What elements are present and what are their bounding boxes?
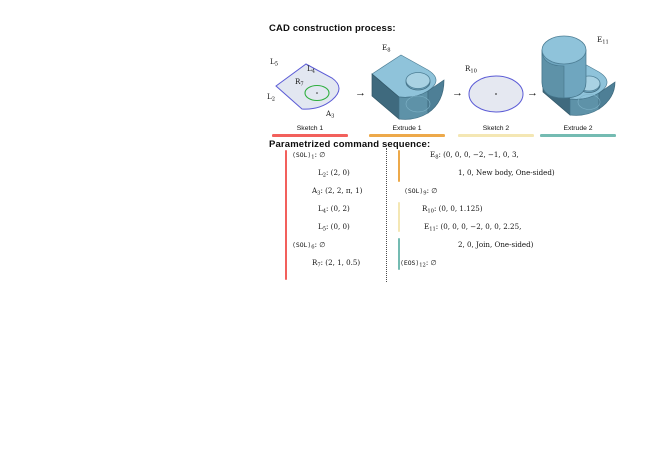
extrude-1-command-bar <box>398 150 400 182</box>
stage-captions: Sketch 1 Extrude 1 Sketch 2 Extrude 2 <box>262 125 602 139</box>
command-line-sol-6: ⟨SOL⟩6: ∅ <box>292 241 325 251</box>
command-line-e-11: E11: (0, 0, 0, −2, 0, 0, 2.25, <box>424 223 521 233</box>
command-line-e-11-cont: 2, 0, Join, One-sided) <box>458 241 533 248</box>
arrow-sketch1-to-extrude1: → <box>355 88 366 99</box>
extrude-1-graphic: E8 <box>368 44 452 126</box>
stage-label-sketch-1: Sketch 1 <box>272 125 348 132</box>
extrude-2-graphic: E11 <box>539 28 629 126</box>
command-line-r-10: R10: (0, 0, 1.125) <box>422 205 483 215</box>
label-L5: L5 <box>270 58 278 68</box>
label-L4: L4 <box>307 65 315 75</box>
stage-bar-extrude-2 <box>540 134 616 137</box>
label-R7: R7 <box>295 78 304 88</box>
command-sequence-heading: Parametrized command sequence: <box>269 139 430 150</box>
command-line-e-8-cont: 1, 0, New body, One-sided) <box>458 169 555 176</box>
label-E8: E8 <box>382 44 391 54</box>
arrow-sketch2-to-extrude2: → <box>527 88 538 99</box>
label-E11: E11 <box>597 36 609 46</box>
stage-label-extrude-2: Extrude 2 <box>540 125 616 132</box>
command-line-l-4: L4: (0, 2) <box>318 205 350 215</box>
stage-bar-sketch-2 <box>458 134 534 137</box>
command-line-sol-9: ⟨SOL⟩9: ∅ <box>404 187 437 197</box>
label-L2: L2 <box>267 93 275 103</box>
command-line-a-3: A3: (2, 2, π, 1) <box>312 187 362 197</box>
figure-canvas: CAD construction process: Parametrized c… <box>0 0 667 473</box>
label-A3: A3 <box>326 110 334 120</box>
stage-label-extrude-1: Extrude 1 <box>369 125 445 132</box>
sketch-2-graphic: R10 <box>465 59 531 121</box>
command-line-sol-1: ⟨SOL⟩1: ∅ <box>292 151 325 161</box>
command-line-e-8: E8: (0, 0, 0, −2, −1, 0, 3, <box>430 151 519 161</box>
arrow-extrude1-to-sketch2: → <box>452 88 463 99</box>
stage-label-sketch-2: Sketch 2 <box>458 125 534 132</box>
command-line-eos-12: ⟨EOS⟩12: ∅ <box>400 259 437 269</box>
stage-bar-extrude-1 <box>369 134 445 137</box>
sketch-1-graphic: L5 L4 L2 A3 R7 <box>262 52 354 124</box>
command-line-l-5: L5: (0, 0) <box>318 223 350 233</box>
stage-bar-sketch-1 <box>272 134 348 137</box>
sketch-1-command-bar <box>285 150 287 280</box>
sketch-2-command-bar <box>398 202 400 232</box>
column-divider <box>386 148 387 282</box>
command-sequence-block: ⟨SOL⟩1: ∅ L2: (2, 0) A3: (2, 2, π, 1) L4… <box>262 150 602 285</box>
cad-process-heading: CAD construction process: <box>269 23 396 34</box>
cad-process-row: L5 L4 L2 A3 R7 → <box>262 34 602 139</box>
label-R10: R10 <box>465 65 477 75</box>
command-line-r-7: R7: (2, 1, 0.5) <box>312 259 360 269</box>
extrude-1-svg <box>368 44 452 126</box>
command-line-l-2: L2: (2, 0) <box>318 169 350 179</box>
extrude-2-svg <box>539 28 629 126</box>
